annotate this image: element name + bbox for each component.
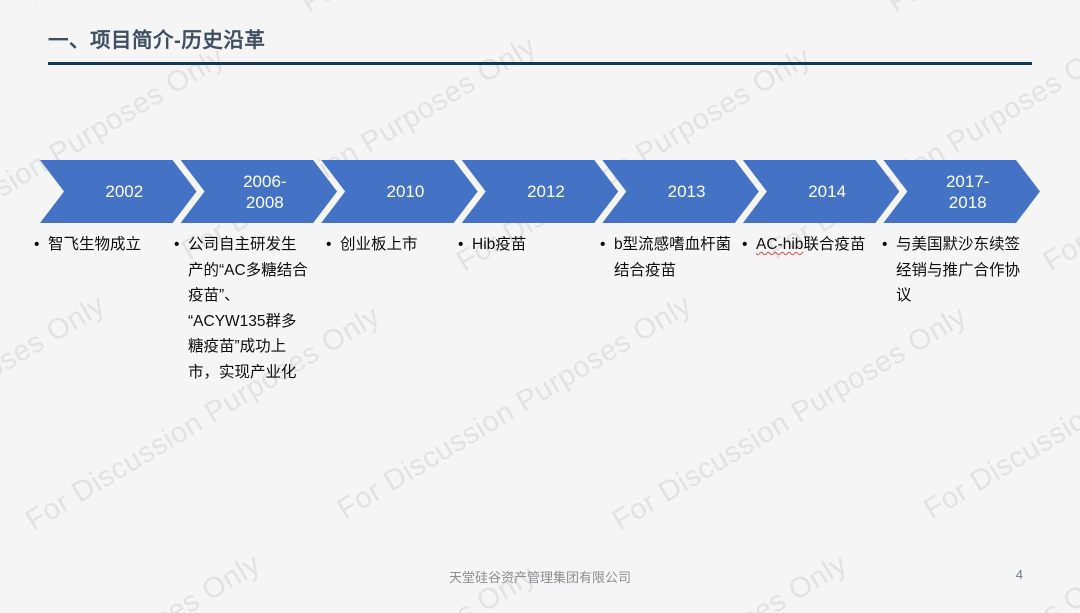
timeline-year-label: 2010 bbox=[387, 181, 425, 202]
slide-footer: 天堂硅谷资产管理集团有限公司 4 bbox=[0, 555, 1080, 613]
watermark-text: For Discussion Purposes Only bbox=[296, 0, 662, 20]
bullet-dot-icon: • bbox=[458, 232, 469, 258]
watermark-text: For Discussion Purposes Only bbox=[607, 300, 973, 538]
timeline-chevron-5[interactable]: 2013 bbox=[602, 160, 759, 223]
bullet-item: •智飞生物成立 bbox=[34, 232, 170, 258]
title-underline-rule bbox=[48, 62, 1032, 65]
bullet-item: •AC-hib联合疫苗 bbox=[742, 232, 878, 258]
watermark-text: For Discussion Purposes Only bbox=[882, 0, 1080, 20]
watermark-text: For Discussion Purposes Only bbox=[21, 0, 387, 9]
bullet-dot-icon: • bbox=[600, 232, 611, 258]
bullet-item: •Hib疫苗 bbox=[458, 232, 594, 258]
footer-page-number: 4 bbox=[1016, 567, 1023, 582]
bullet-text: 公司自主研发生产的“AC多糖结合疫苗”、 “ACYW135群多糖疫苗”成功上市，… bbox=[188, 232, 310, 385]
bullet-text: 智飞生物成立 bbox=[48, 232, 170, 258]
timeline-year-label: 2002 bbox=[105, 181, 143, 202]
timeline-year-label: 2006-2008 bbox=[243, 171, 286, 213]
timeline-chevron-3[interactable]: 2010 bbox=[321, 160, 478, 223]
bullet-dot-icon: • bbox=[326, 232, 337, 258]
bullet-dot-icon: • bbox=[742, 232, 753, 258]
detail-column-6: •AC-hib联合疫苗 bbox=[742, 232, 878, 258]
timeline-year-label: 2017-2018 bbox=[946, 171, 989, 213]
bullet-item: •b型流感嗜血杆菌结合疫苗 bbox=[600, 232, 736, 283]
timeline-year-label: 2014 bbox=[808, 181, 846, 202]
bullet-item: •创业板上市 bbox=[326, 232, 454, 258]
timeline-chevron-row: 20022006-200820102012201320142017-2018 bbox=[0, 160, 1080, 223]
bullet-text: b型流感嗜血杆菌结合疫苗 bbox=[614, 232, 736, 283]
title-block: 一、项目简介-历史沿革 bbox=[48, 26, 1032, 65]
footer-company-name: 天堂硅谷资产管理集团有限公司 bbox=[0, 567, 1080, 586]
timeline-chevron-4[interactable]: 2012 bbox=[462, 160, 619, 223]
watermark-text: For Discussion Purposes Only bbox=[607, 0, 973, 9]
timeline-chevron-6[interactable]: 2014 bbox=[743, 160, 900, 223]
slide-canvas: For Discussion Purposes OnlyFor Discussi… bbox=[0, 0, 1080, 613]
watermark-text: For Discussion Purposes Only bbox=[332, 289, 698, 527]
detail-column-5: •b型流感嗜血杆菌结合疫苗 bbox=[600, 232, 736, 283]
bullet-dot-icon: • bbox=[882, 232, 893, 258]
bullet-dot-icon: • bbox=[174, 232, 185, 258]
bullet-text: 创业板上市 bbox=[340, 232, 454, 258]
detail-column-7: •与美国默沙东续签经销与推广合作协议 bbox=[882, 232, 1022, 309]
bullet-dot-icon: • bbox=[34, 232, 45, 258]
bullet-text: 与美国默沙东续签经销与推广合作协议 bbox=[896, 232, 1022, 309]
timeline-year-label: 2013 bbox=[668, 181, 706, 202]
timeline-chevron-7[interactable]: 2017-2018 bbox=[883, 160, 1040, 223]
timeline-year-label: 2012 bbox=[527, 181, 565, 202]
bullet-text: AC-hib联合疫苗 bbox=[756, 232, 878, 258]
bullet-text: Hib疫苗 bbox=[472, 232, 594, 258]
timeline-chevron-1[interactable]: 2002 bbox=[40, 160, 197, 223]
bullet-item: •与美国默沙东续签经销与推广合作协议 bbox=[882, 232, 1022, 309]
watermark-text: For Discussion Purposes Only bbox=[0, 289, 111, 527]
detail-column-3: •创业板上市 bbox=[326, 232, 454, 258]
spellcheck-underlined-term: AC-hib bbox=[756, 236, 803, 253]
detail-column-2: •公司自主研发生产的“AC多糖结合疫苗”、 “ACYW135群多糖疫苗”成功上市… bbox=[174, 232, 310, 385]
detail-column-1: •智飞生物成立 bbox=[34, 232, 170, 258]
bullet-item: •公司自主研发生产的“AC多糖结合疫苗”、 “ACYW135群多糖疫苗”成功上市… bbox=[174, 232, 310, 385]
detail-column-4: •Hib疫苗 bbox=[458, 232, 594, 258]
watermark-text: For Discussion Purposes Only bbox=[919, 289, 1080, 527]
timeline-chevron-2[interactable]: 2006-2008 bbox=[181, 160, 338, 223]
page-title: 一、项目简介-历史沿革 bbox=[48, 26, 1032, 56]
